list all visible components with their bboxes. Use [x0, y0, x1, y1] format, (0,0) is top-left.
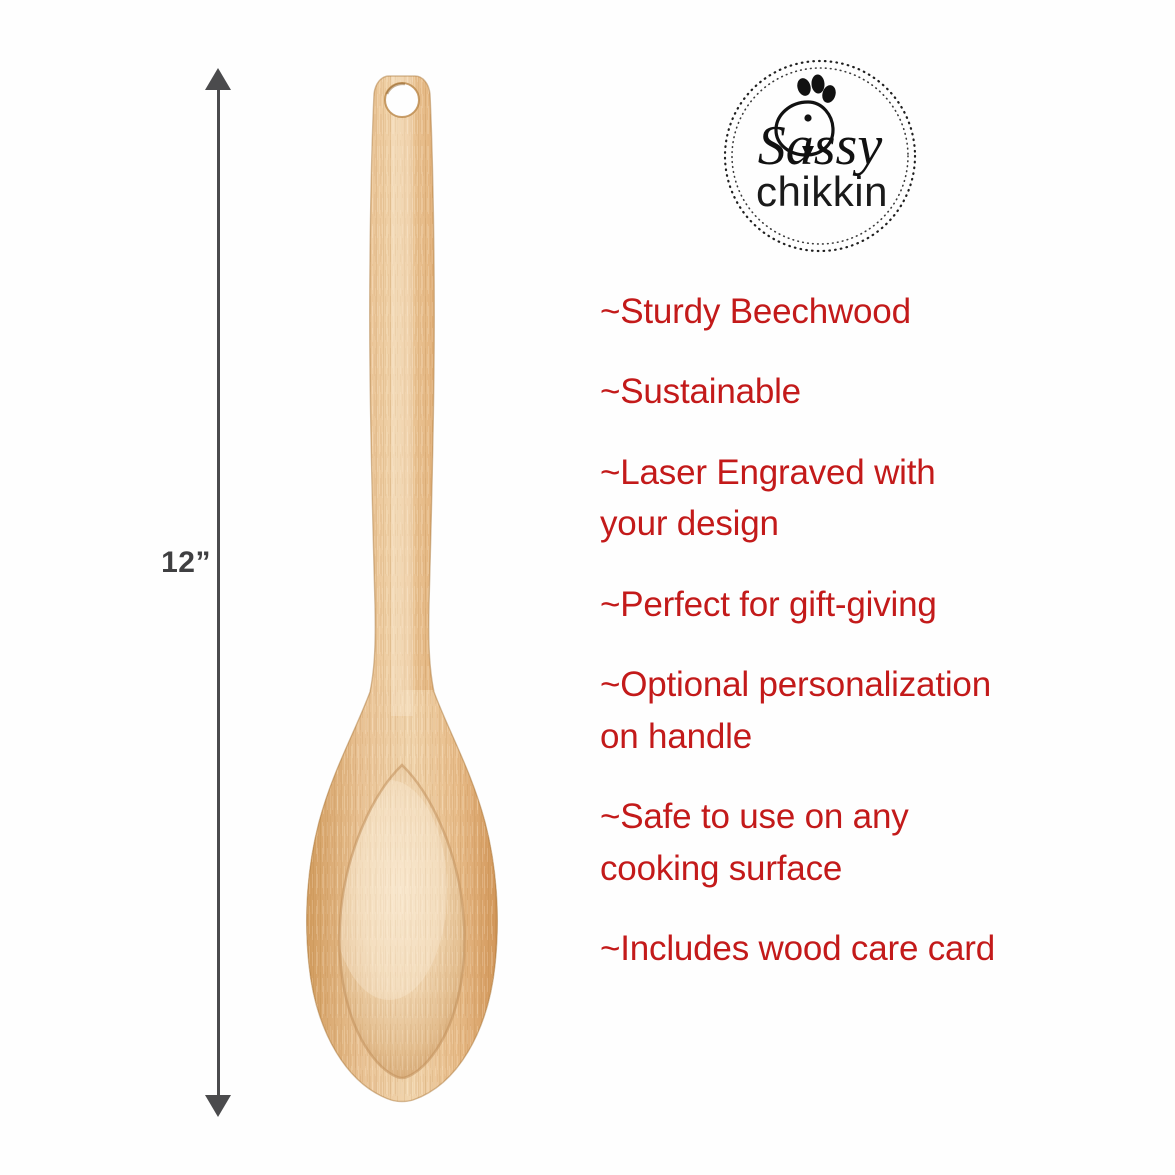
dimension-label: 12” — [153, 548, 211, 578]
feature-list: ~Sturdy Beechwood ~Sustainable ~Laser En… — [600, 286, 1140, 974]
brand-logo: Sassy chikkin — [722, 58, 918, 254]
logo-sub-text: chikkin — [756, 168, 888, 215]
dimension-indicator: 12” — [155, 60, 285, 1130]
dimension-line — [217, 84, 220, 1106]
feature-cooking-surface: ~Safe to use on any cooking surface — [600, 791, 1140, 894]
feature-sturdy-beechwood: ~Sturdy Beechwood — [600, 286, 1140, 337]
wooden-spoon-image — [285, 60, 525, 1125]
feature-wood-care-card: ~Includes wood care card — [600, 923, 1140, 974]
feature-gift-giving: ~Perfect for gift-giving — [600, 579, 1140, 630]
feature-personalization: ~Optional personalization on handle — [600, 659, 1140, 762]
dimension-arrow-down-icon — [205, 1095, 231, 1117]
feature-laser-engraved: ~Laser Engraved with your design — [600, 447, 1140, 550]
product-infographic: 12” — [0, 0, 1175, 1175]
feature-sustainable: ~Sustainable — [600, 366, 1140, 417]
